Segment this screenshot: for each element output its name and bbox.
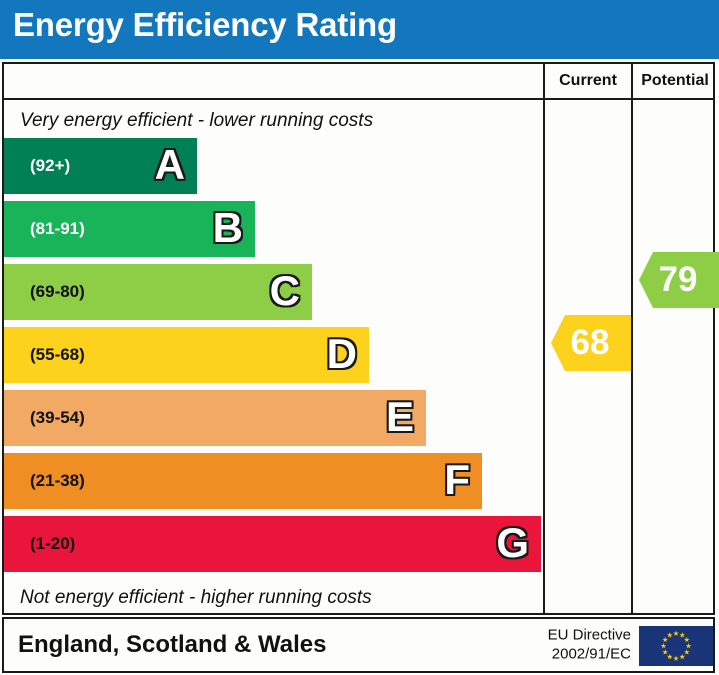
rating-bands: (92+)A(81-91)B(69-80)C(55-68)D(39-54)E(2… [4, 138, 541, 578]
band-letter-a: A [155, 144, 185, 186]
page-title: Energy Efficiency Rating [13, 6, 397, 44]
directive-line-2: 2002/91/EC [519, 645, 631, 664]
column-divider-current [543, 64, 545, 613]
rating-band-c: (69-80)C [4, 264, 312, 320]
band-letter-e: E [386, 396, 414, 438]
band-letter-b: B [213, 207, 243, 249]
band-letter-g: G [496, 522, 529, 564]
title-banner: Energy Efficiency Rating [0, 0, 719, 59]
band-letter-c: C [270, 270, 300, 312]
band-range-g: (1-20) [30, 534, 75, 554]
rating-marker-current: 68 [551, 315, 631, 371]
band-range-a: (92+) [30, 156, 70, 176]
rating-marker-potential: 79 [639, 252, 719, 308]
rating-band-d: (55-68)D [4, 327, 369, 383]
column-header-current: Current [545, 64, 631, 98]
column-header-row: Current Potential [4, 64, 713, 100]
rating-band-b: (81-91)B [4, 201, 255, 257]
directive-line-1: EU Directive [519, 626, 631, 645]
band-range-c: (69-80) [30, 282, 85, 302]
band-range-d: (55-68) [30, 345, 85, 365]
rating-value-potential: 79 [639, 262, 717, 297]
rating-table: Current Potential Very energy efficient … [2, 62, 715, 615]
rating-band-g: (1-20)G [4, 516, 541, 572]
band-range-f: (21-38) [30, 471, 85, 491]
caption-inefficient: Not energy efficient - higher running co… [20, 587, 372, 609]
footer-directive: EU Directive 2002/91/EC [519, 626, 631, 664]
caption-efficient: Very energy efficient - lower running co… [20, 110, 373, 132]
rating-value-current: 68 [551, 325, 629, 360]
eu-flag-icon [639, 626, 713, 666]
band-letter-d: D [327, 333, 357, 375]
rating-band-e: (39-54)E [4, 390, 426, 446]
band-letter-f: F [444, 459, 470, 501]
band-range-b: (81-91) [30, 219, 85, 239]
column-divider-potential [631, 64, 633, 613]
footer-region-label: England, Scotland & Wales [18, 631, 326, 659]
band-range-e: (39-54) [30, 408, 85, 428]
energy-efficiency-certificate: Energy Efficiency Rating Current Potenti… [0, 0, 719, 675]
certificate-footer: England, Scotland & Wales EU Directive 2… [2, 617, 715, 673]
rating-band-f: (21-38)F [4, 453, 482, 509]
rating-band-a: (92+)A [4, 138, 197, 194]
column-header-potential: Potential [633, 64, 717, 98]
